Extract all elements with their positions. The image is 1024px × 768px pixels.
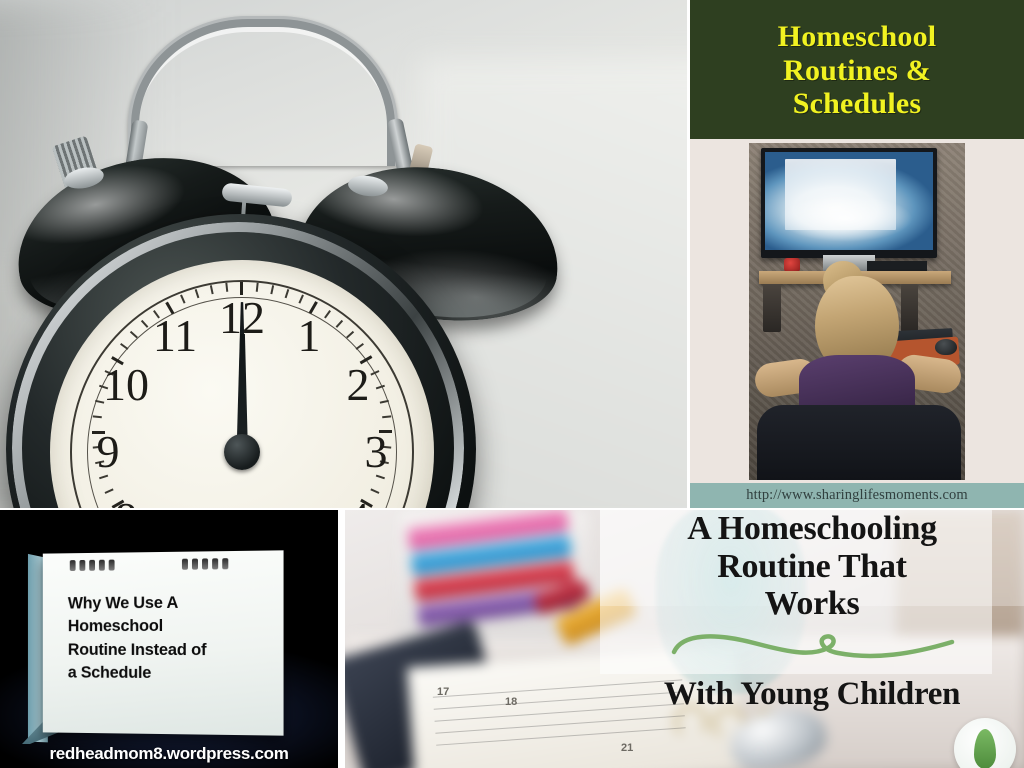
header-line-3: Schedules [793,87,922,121]
panel-homeschool-routines-schedules: Homeschool Routines & Schedules [690,0,1024,508]
title-line-1: A Homeschooling [600,512,1024,547]
site-url: http://www.sharinglifesmoments.com [746,487,968,504]
clock-numeral-2: 2 [328,362,388,408]
clock-numeral-4: 4 [328,496,388,508]
planner-day-number: 17 [437,686,449,698]
clock-numeral-11: 11 [145,313,205,359]
card-line-3: Routine Instead of [68,639,267,663]
office-chair [757,405,961,480]
screen-glow [778,195,912,242]
blog-url: redheadmom8.wordpress.com [0,744,338,764]
speaker-right [901,284,918,332]
desk-red-object [784,258,800,272]
sticky-note-tabs [407,510,578,631]
overlay-title: A Homeschooling Routine That Works With … [600,510,1024,712]
header-line-2: Routines & [783,54,931,88]
panel-header-banner: Homeschool Routines & Schedules [690,0,1024,139]
swirl-divider-icon [600,626,1024,666]
card-line-4: a Schedule [68,662,267,686]
leaf-icon [974,729,996,768]
panel-divider-horizontal [0,508,1024,510]
collage-canvas: 121234567891011 Homeschool Routines & Sc… [0,0,1024,768]
speaker-left [763,284,781,332]
leaf-badge [954,718,1016,768]
clock-numeral-9: 9 [78,429,138,475]
card-line-2: Homeschool [68,615,267,639]
monitor-screen [765,152,933,250]
panel-divider-vertical-2 [338,510,345,768]
child-at-computer-photo-frame [690,139,1024,483]
title-line-4: With Young Children [600,678,1024,712]
clock-numeral-8: 8 [96,496,156,508]
monitor-icon [761,148,937,258]
clock-center-pin [224,434,260,470]
clock-numeral-10: 10 [96,362,156,408]
planner-day-number: 18 [505,696,517,708]
mouse-icon [935,339,957,355]
header-line-1: Homeschool [778,20,937,54]
panel-divider-vertical [687,0,690,508]
clock-handle-icon [128,16,398,166]
card-text: Why We Use A Homeschool Routine Instead … [68,591,267,686]
child-at-computer-photo [749,143,965,480]
title-line-2: Routine That [600,550,1024,585]
url-bar: http://www.sharinglifesmoments.com [690,483,1024,508]
flip-chart-card: Why We Use A Homeschool Routine Instead … [43,550,284,735]
panel-a-homeschooling-routine-that-works: A Homeschooling Routine That Works With … [600,510,1024,768]
clock-numeral-1: 1 [279,313,339,359]
clock-numeral-3: 3 [346,429,406,475]
spiral-binding-left [70,560,115,571]
panel-why-we-use-a-homeschool-routine: Why We Use A Homeschool Routine Instead … [0,510,338,768]
title-line-3: Works [600,587,1024,622]
panel-alarm-clock-photo: 121234567891011 [0,0,687,508]
spiral-binding-right [182,558,228,570]
card-line-1: Why We Use A [68,591,267,616]
